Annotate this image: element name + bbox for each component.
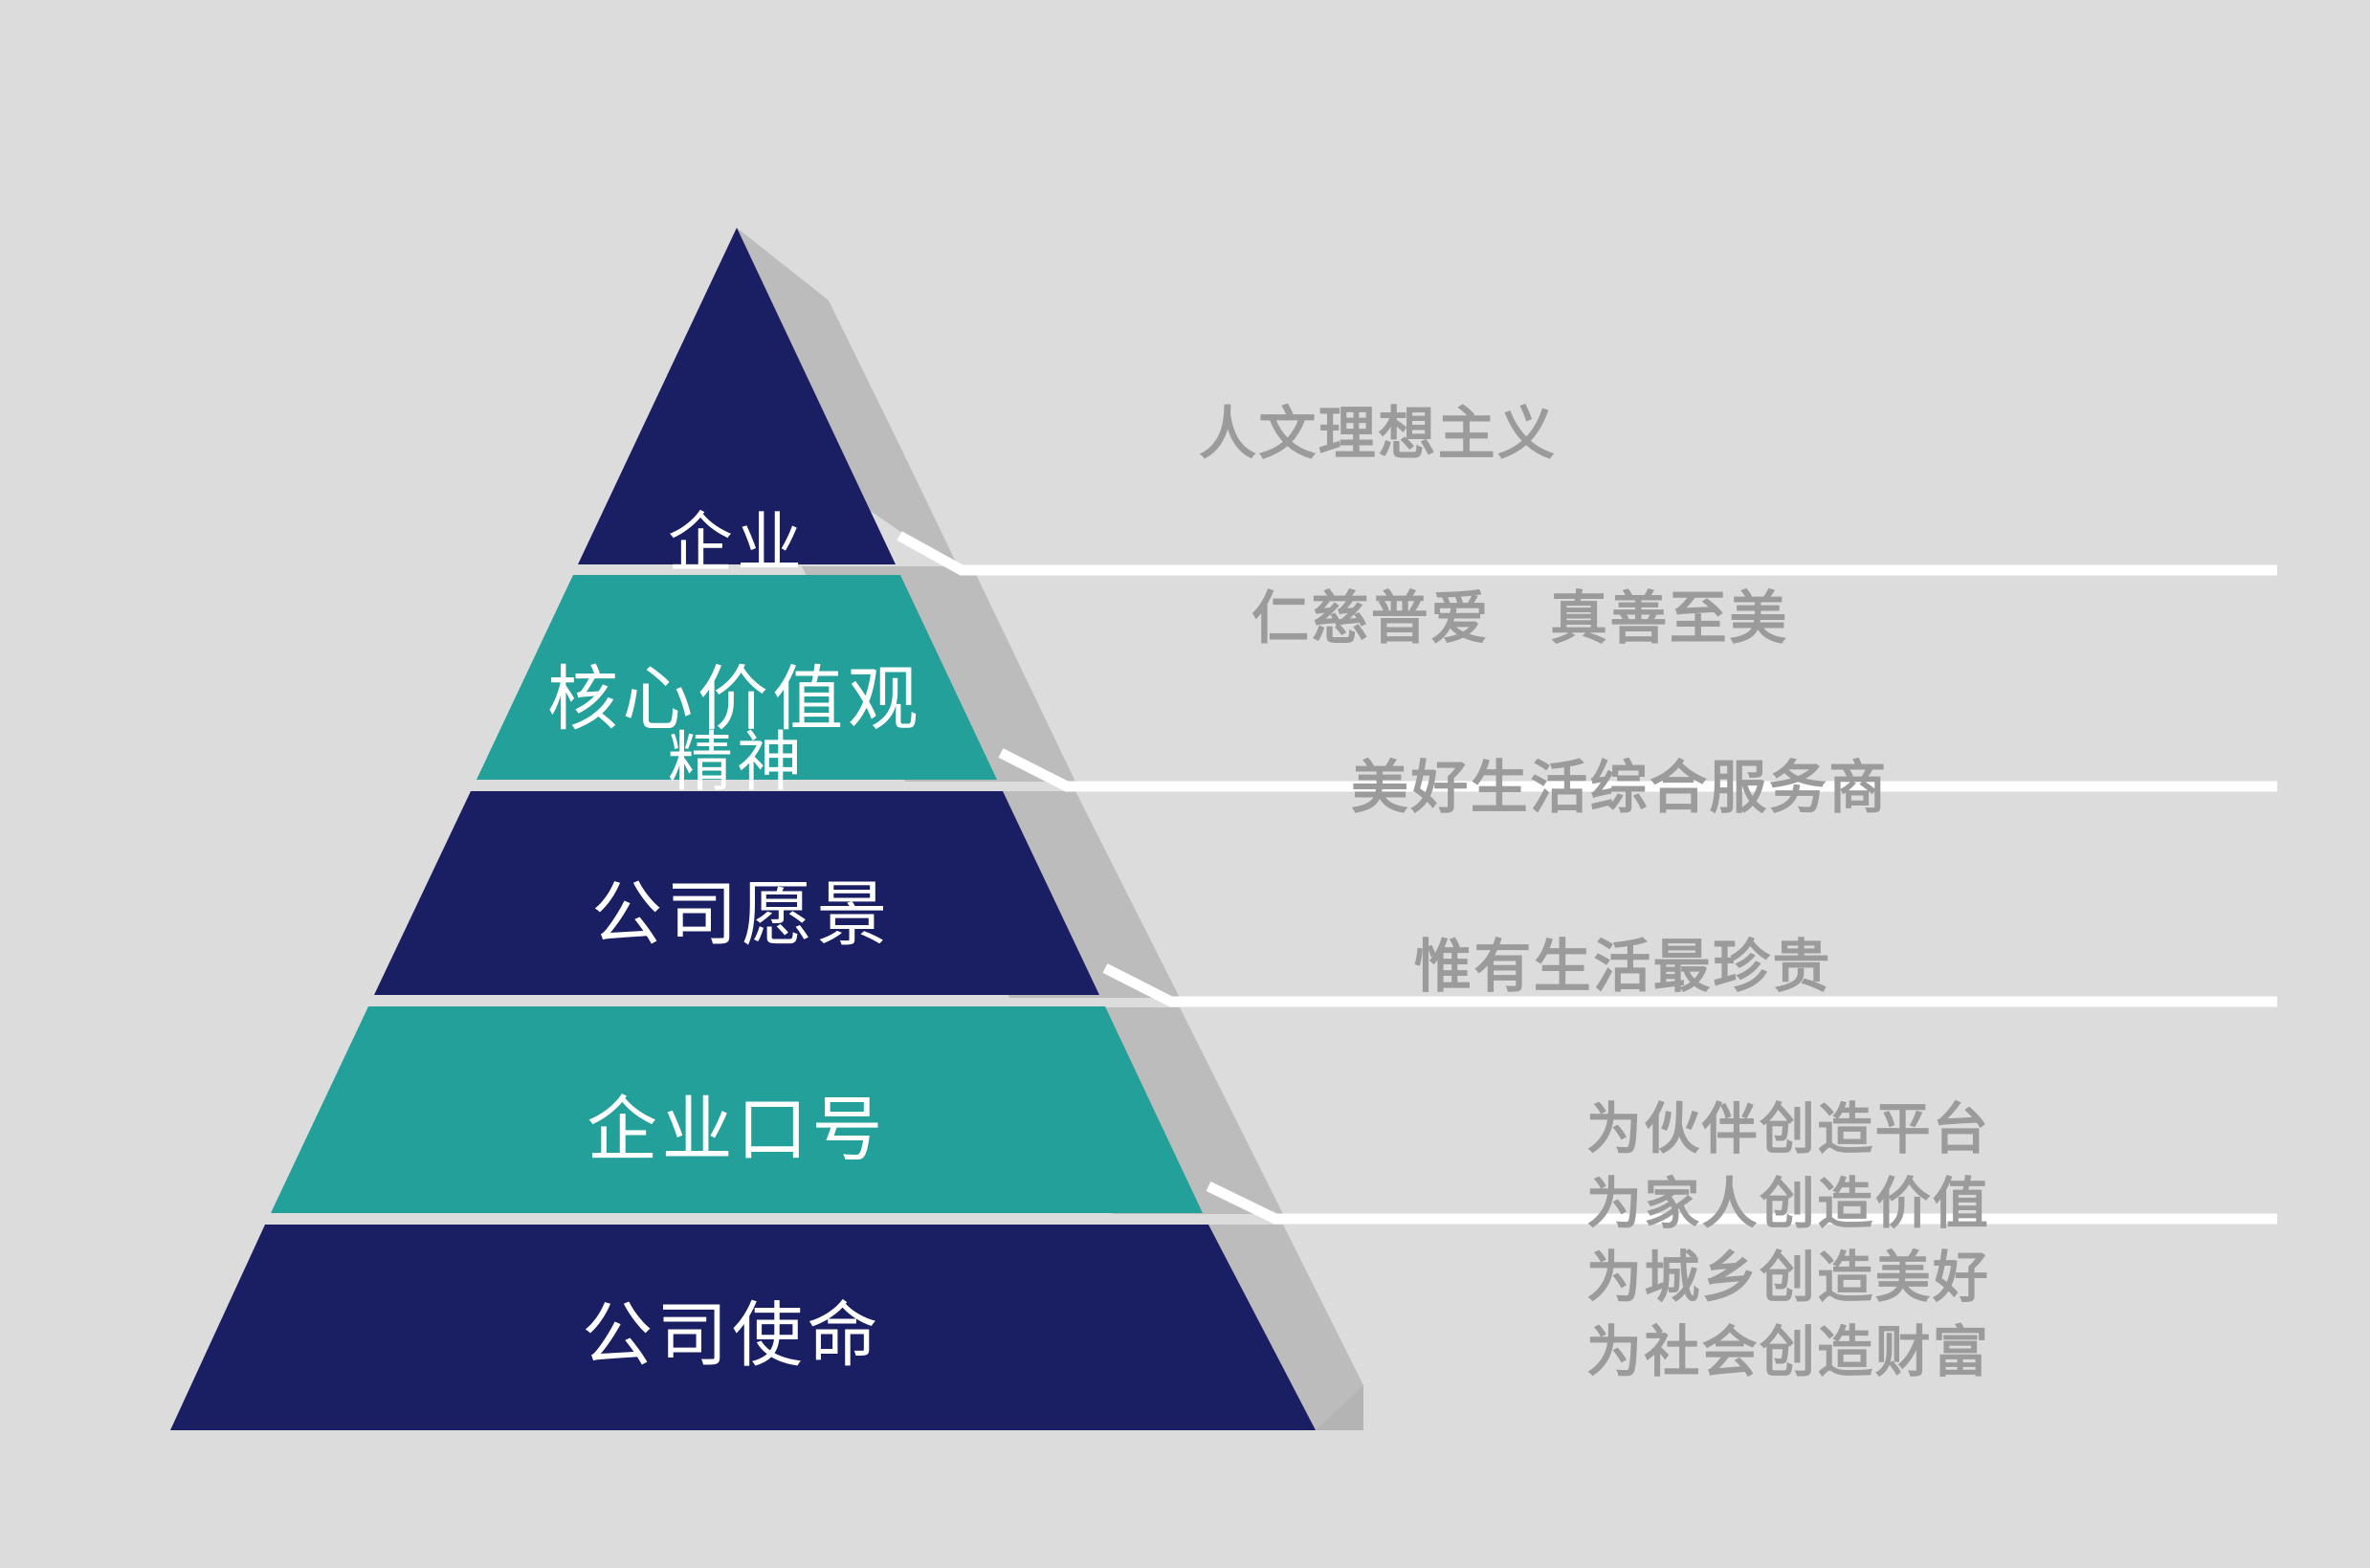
note-mission-line-2: 为家人创造价值 xyxy=(1586,1167,1990,1242)
pyramid-diagram xyxy=(0,0,2370,1568)
diagram-canvas: 企业 精神 核心价值观 公司愿景 企业口号 公司使命 人文理想主义 仁慈普爱 真… xyxy=(0,0,2370,1568)
note-mission-line-4: 为社会创造财富 xyxy=(1586,1315,1990,1390)
pyramid-layer-4-slogan[interactable] xyxy=(271,1006,1203,1213)
note-mission-block: 为伙伴创造平台 为家人创造价值 为城乡创造美好 为社会创造财富 xyxy=(1586,1093,1990,1390)
note-mission-line-1: 为伙伴创造平台 xyxy=(1586,1093,1990,1167)
note-mission-line-3: 为城乡创造美好 xyxy=(1586,1241,1990,1315)
note-values: 仁慈普爱 真善至美 xyxy=(1251,582,1789,656)
note-slogan: 惟有生活最珍贵 xyxy=(1414,930,1832,1005)
pyramid-layer-5-mission[interactable] xyxy=(170,1225,1316,1430)
pyramid-layer-3-vision[interactable] xyxy=(374,791,1099,995)
note-vision: 美好生活综合服务商 xyxy=(1351,751,1889,826)
note-spirit: 人文理想主义 xyxy=(1199,397,1557,472)
